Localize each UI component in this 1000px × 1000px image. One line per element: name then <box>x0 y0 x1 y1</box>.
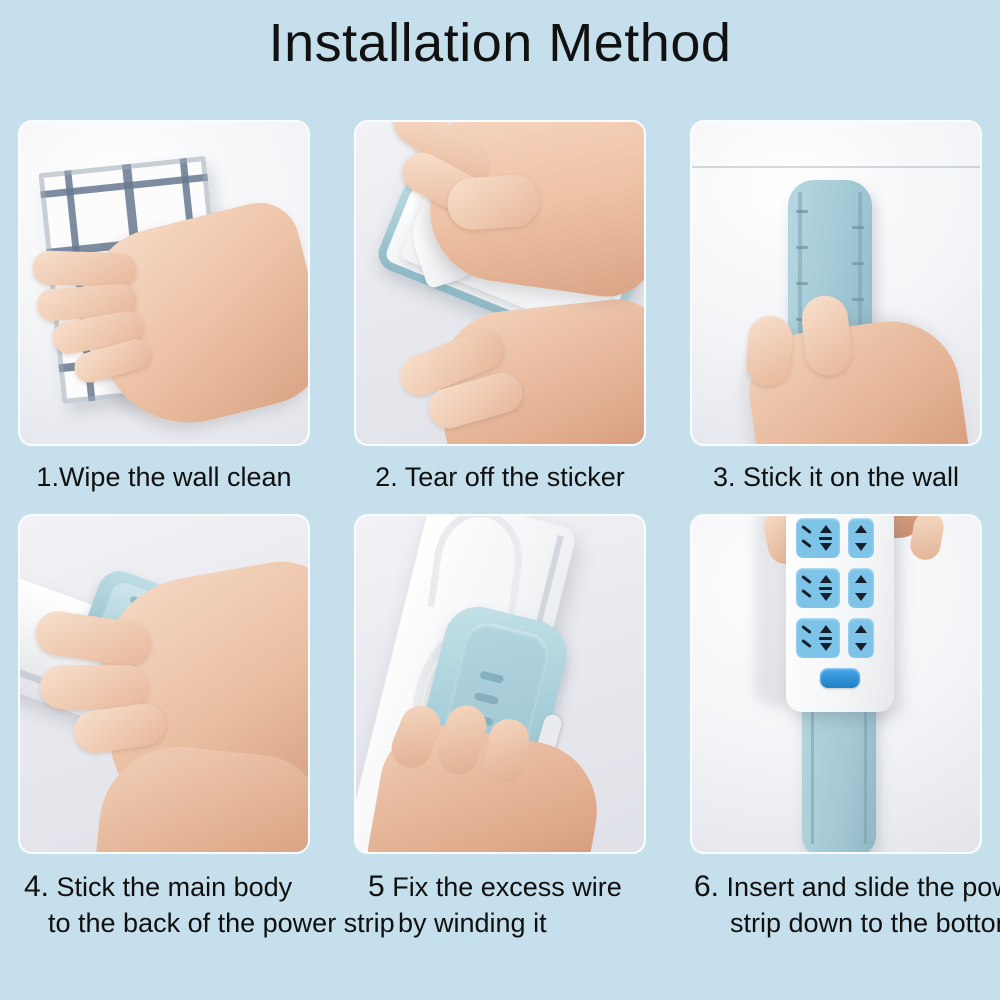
step-number: 5 <box>368 870 385 903</box>
wall-bracket <box>802 688 876 854</box>
step-caption-line-2: to the back of the power strip <box>18 906 310 941</box>
step-number: 4. <box>24 870 49 903</box>
step-1-image <box>18 120 310 446</box>
step-5-caption: 5 Fix the excess wire by winding it <box>354 854 646 946</box>
step-caption-line-1: Insert and slide the power <box>727 872 1000 902</box>
step-caption-line-1: Stick the main body <box>57 872 293 902</box>
step-3-caption: 3. Stick it on the wall <box>690 446 982 514</box>
page-title: Installation Method <box>0 14 1000 73</box>
steps-grid: 1.Wipe the wall clean 2. Tear off the st… <box>18 120 982 946</box>
step-3-image <box>690 120 982 446</box>
step-number: 6. <box>694 870 719 903</box>
wall-seam <box>692 166 980 168</box>
step-caption-line-1: Fix the excess wire <box>392 872 622 902</box>
step-4-caption: 4. Stick the main body to the back of th… <box>18 854 310 946</box>
power-strip <box>786 514 894 712</box>
infographic-page: Installation Method <box>0 0 1000 1000</box>
step-2-caption: 2. Tear off the sticker <box>354 446 646 514</box>
step-4-image <box>18 514 310 854</box>
step-2-image <box>354 120 646 446</box>
step-caption-line-2: strip down to the bottom <box>690 906 982 941</box>
step-6-caption: 6. Insert and slide the power strip down… <box>690 854 982 946</box>
step-6-image <box>690 514 982 854</box>
step-5-image <box>354 514 646 854</box>
power-switch <box>820 668 860 688</box>
step-caption-line-2: by winding it <box>354 906 646 941</box>
step-1-caption: 1.Wipe the wall clean <box>18 446 310 514</box>
